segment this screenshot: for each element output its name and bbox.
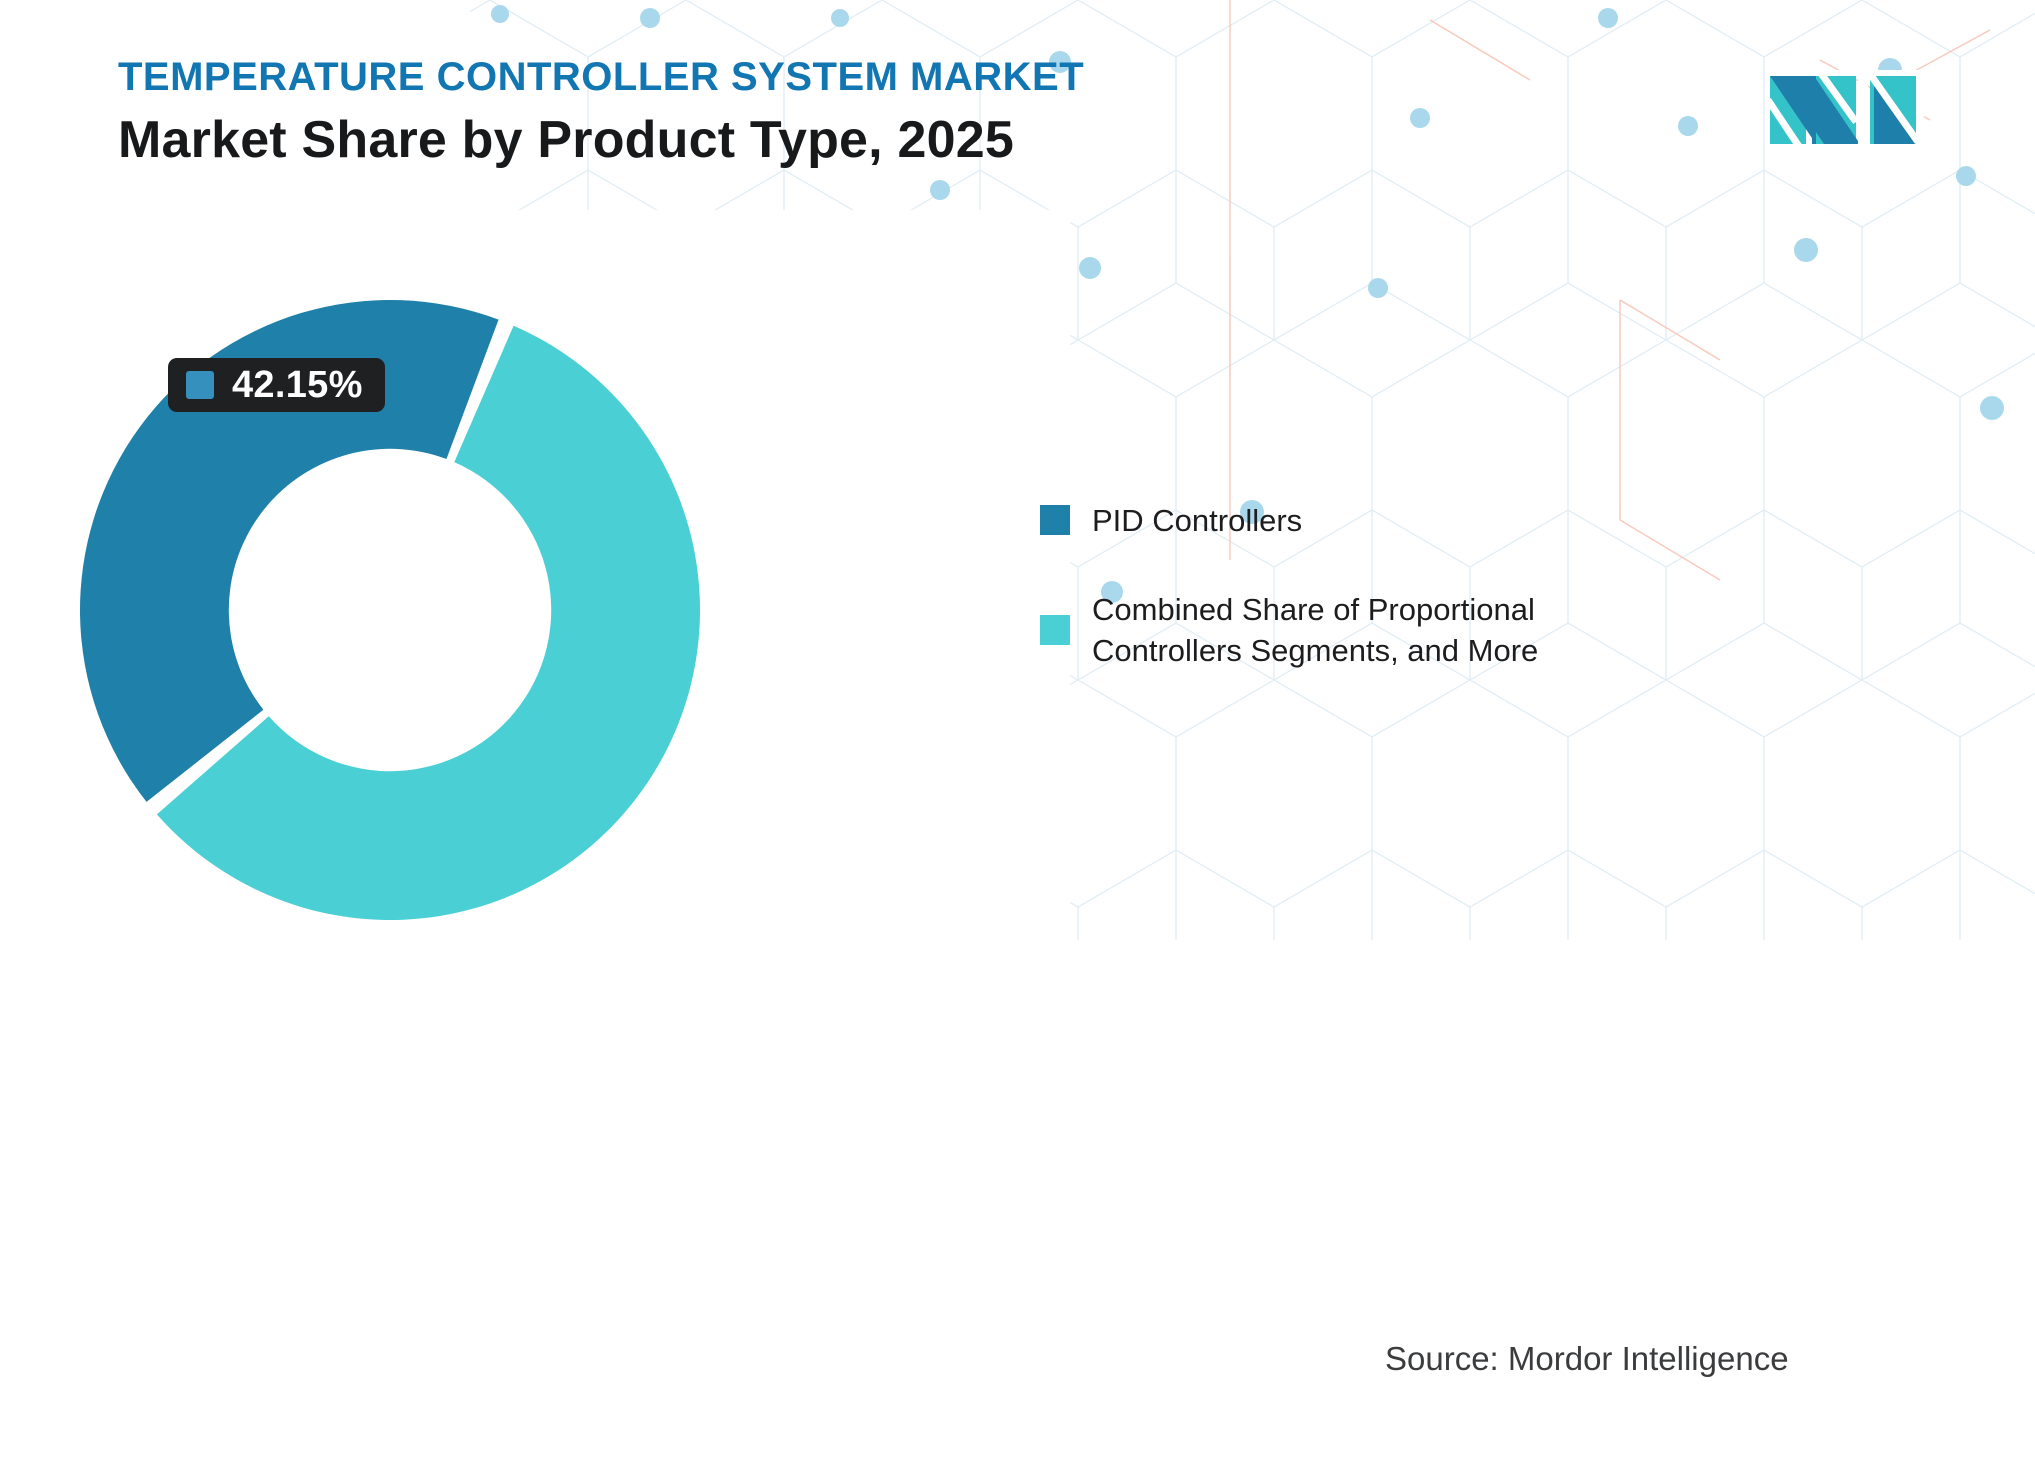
chart-header: TEMPERATURE CONTROLLER SYSTEM MARKET Mar… (118, 56, 1418, 169)
legend-item-combined-share[interactable]: Combined Share of Proportional Controlle… (1040, 589, 1680, 671)
page-title: Market Share by Product Type, 2025 (118, 112, 1418, 169)
legend-swatch-combined-share (1040, 615, 1070, 645)
data-label-callout: 42.15% (168, 358, 385, 412)
legend-label-pid-controllers: PID Controllers (1092, 500, 1302, 541)
mordor-intelligence-logo-icon (1766, 70, 1924, 150)
callout-value: 42.15% (232, 366, 363, 404)
legend-label-combined-share: Combined Share of Proportional Controlle… (1092, 589, 1680, 671)
market-kicker: TEMPERATURE CONTROLLER SYSTEM MARKET (118, 56, 1418, 98)
callout-color-swatch (186, 371, 214, 399)
chart-legend: PID Controllers Combined Share of Propor… (1040, 500, 1680, 672)
donut-chart (60, 280, 740, 960)
legend-swatch-pid-controllers (1040, 505, 1070, 535)
legend-item-pid-controllers[interactable]: PID Controllers (1040, 500, 1680, 541)
source-attribution: Source: Mordor Intelligence (1385, 1340, 1789, 1378)
